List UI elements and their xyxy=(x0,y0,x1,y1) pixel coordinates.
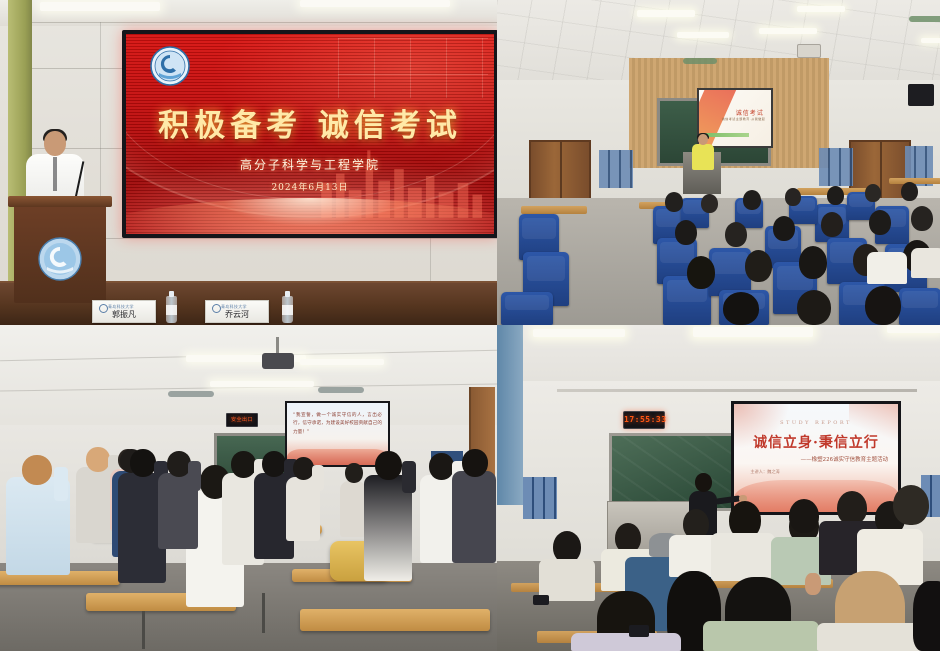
student-head xyxy=(743,190,761,210)
presenter-figure xyxy=(692,134,714,168)
student-torso xyxy=(911,248,940,278)
bottle-label xyxy=(282,305,293,315)
ceiling-fan xyxy=(909,16,940,22)
panel-lecture-hall-assembly: 诚信考试 诚信考试主题教育·从我做起 xyxy=(497,0,940,325)
bottle-label xyxy=(166,305,177,315)
student-head xyxy=(911,206,933,231)
panel-auditorium-opening-ceremony: 积极备考 诚信考试 高分子科学与工程学院 2024年6月13日 xyxy=(0,0,497,325)
student-head xyxy=(837,491,867,525)
ceiling-fan xyxy=(168,391,214,397)
desk xyxy=(521,206,587,214)
student-shirt xyxy=(452,471,496,563)
student-torso xyxy=(711,533,775,581)
ceiling-light xyxy=(533,329,625,337)
ceiling-light xyxy=(887,325,940,333)
photo-collage: 积极备考 诚信考试 高分子科学与工程学院 2024年6月13日 xyxy=(0,0,940,651)
auditorium-seat xyxy=(501,292,553,325)
projector xyxy=(797,44,821,58)
ceiling-fan xyxy=(683,58,717,64)
nameplate: 青岛科技大学 乔云河 xyxy=(205,300,269,323)
mobile-phone xyxy=(629,625,649,637)
slide-title: 诚信立身·秉信立行 xyxy=(734,432,898,452)
student-head xyxy=(22,455,52,485)
ceiling-light xyxy=(921,38,940,43)
slide-host-label: 主讲人：魏之涛 xyxy=(750,469,779,475)
student-head xyxy=(723,292,759,325)
projection-screen-content: STUDY REPORT 诚信立身·秉信立行 ——橡塑226诚实守信教育主题活动… xyxy=(734,404,898,512)
student-torso xyxy=(571,633,681,651)
ceiling-light xyxy=(300,359,384,365)
speaker-head xyxy=(44,131,66,156)
ceiling-light xyxy=(300,0,450,7)
student-torso xyxy=(867,252,907,284)
notice-board xyxy=(599,150,633,188)
projector xyxy=(262,353,294,369)
student-head xyxy=(262,451,286,477)
desk-leg xyxy=(262,593,265,633)
student-head xyxy=(293,457,314,480)
exit-led-sign: 安全出口 xyxy=(226,413,258,427)
student-head xyxy=(687,256,715,289)
exit-led-sign-text: 安全出口 xyxy=(227,416,257,423)
ceiling-light xyxy=(677,32,729,38)
student-head xyxy=(231,451,256,478)
presenter-head xyxy=(695,473,712,492)
led-date: 2024年6月13日 xyxy=(126,180,494,193)
student-head xyxy=(345,463,363,483)
lectern-top xyxy=(8,196,112,207)
student-head xyxy=(745,250,772,282)
student-head xyxy=(913,581,940,651)
student-head xyxy=(893,485,929,525)
wall-seam xyxy=(430,238,431,282)
panel-classroom-oath-ceremony: 安全出口 “我宣誓，做一个诚实守信的人，言出必行，信守承诺，为建设美好校园贡献自… xyxy=(0,325,497,651)
student-head xyxy=(785,188,801,206)
ceiling-light xyxy=(637,10,695,17)
desk-leg xyxy=(142,611,145,649)
student-head xyxy=(130,449,156,477)
student-torso xyxy=(703,621,819,651)
student-head xyxy=(789,499,819,533)
student-desk xyxy=(300,609,490,631)
slide-subtitle: ——橡塑226诚实守信教育主题活动 xyxy=(801,455,889,463)
ceiling-light xyxy=(693,327,813,337)
presenter-head xyxy=(698,134,708,145)
student-raised-arm xyxy=(402,461,416,493)
slide-subtitle: 诚信考试主题教育·从我做起 xyxy=(722,117,766,121)
mobile-phone xyxy=(533,595,549,605)
student-head xyxy=(725,222,747,247)
oath-text: “我宣誓，做一个诚实守信的人，言出必行，信守承诺，为建设美好校园贡献自己的力量！… xyxy=(293,412,382,437)
nameplate-name: 乔云河 xyxy=(206,309,268,320)
ceiling-light xyxy=(797,6,845,12)
ceiling-light xyxy=(40,2,160,11)
student-head xyxy=(665,192,683,212)
student-head xyxy=(865,184,881,202)
student-head xyxy=(675,220,697,245)
student-head xyxy=(797,290,831,325)
water-bottle xyxy=(166,296,177,323)
nameplate: 青岛科技大学 郭振凡 xyxy=(92,300,156,323)
clock-time: 17:55:33 xyxy=(624,415,664,424)
notice-board xyxy=(819,148,853,186)
projection-screen: STUDY REPORT 诚信立身·秉信立行 ——橡塑226诚实守信教育主题活动… xyxy=(731,401,901,515)
led-title: 积极备考 诚信考试 xyxy=(126,100,494,145)
slide-title: 诚信考试 xyxy=(736,108,764,117)
led-subtitle: 高分子科学与工程学院 xyxy=(126,156,494,173)
ceiling-light xyxy=(210,381,314,387)
ceiling-fan xyxy=(318,387,364,393)
slide-eyebrow: STUDY REPORT xyxy=(734,420,898,426)
panel-classroom-theme-activity: 17:55:33 STUDY REPORT 诚信立身·秉信立行 ——橡塑226诚… xyxy=(497,325,940,651)
notice-board xyxy=(523,477,557,519)
water-bottle xyxy=(282,296,293,323)
student-head xyxy=(865,286,901,325)
student-raised-arm xyxy=(54,467,68,501)
student-head xyxy=(375,451,402,480)
student-head xyxy=(901,182,918,201)
projection-screen-content: “我宣誓，做一个诚实守信的人，言出必行，信守承诺，为建设美好校园贡献自己的力量！… xyxy=(287,403,388,465)
student-head xyxy=(827,186,844,205)
curtain-rail xyxy=(557,389,917,392)
presenter-torso xyxy=(692,144,714,170)
student-head xyxy=(429,453,454,480)
student-head xyxy=(773,216,795,241)
speaker-shirt-placket xyxy=(53,157,57,191)
student-head xyxy=(799,246,827,279)
ceiling-light xyxy=(759,28,817,34)
wall-pillar xyxy=(497,325,523,505)
student-head xyxy=(86,447,110,472)
student-head xyxy=(462,449,488,477)
led-display-wall: 积极备考 诚信考试 高分子科学与工程学院 2024年6月13日 xyxy=(122,30,497,238)
auditorium-seat xyxy=(899,288,940,325)
student-head xyxy=(701,194,718,213)
wall-seam xyxy=(32,22,497,23)
digital-wall-clock: 17:55:33 xyxy=(623,411,665,429)
student-raised-arm xyxy=(188,461,201,491)
nameplate-name: 郭振凡 xyxy=(93,309,155,320)
student-head xyxy=(821,212,843,237)
university-emblem-icon xyxy=(38,237,82,281)
wall-monitor xyxy=(908,84,934,106)
student-head xyxy=(869,210,891,235)
led-screen-content: 积极备考 诚信考试 高分子科学与工程学院 2024年6月13日 xyxy=(126,34,494,234)
lectern xyxy=(14,203,106,303)
university-emblem-icon xyxy=(150,46,190,86)
student-shirt xyxy=(340,481,366,537)
student-raised-hand xyxy=(805,573,821,595)
student-raised-arm xyxy=(312,465,324,491)
